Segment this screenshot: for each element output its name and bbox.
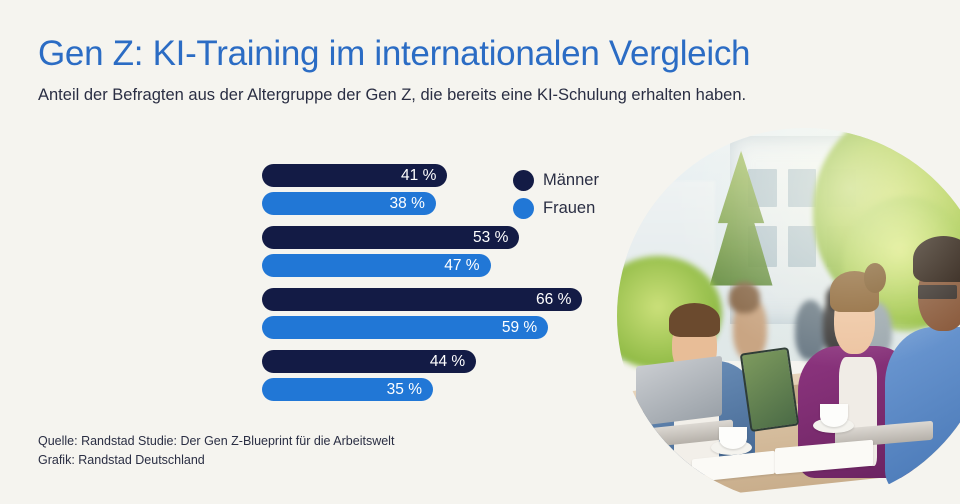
bar-value-label: 59 % bbox=[502, 319, 537, 337]
bar-value-label: 53 % bbox=[473, 229, 508, 247]
bar-value-label: 41 % bbox=[401, 167, 436, 185]
legend-label: Frauen bbox=[543, 199, 595, 218]
bar-men-spanien: 53 % bbox=[262, 226, 519, 249]
bar-row-women: 35 % bbox=[262, 378, 622, 401]
bar-value-label: 35 % bbox=[387, 381, 422, 399]
header: Gen Z: KI-Training im internationalen Ve… bbox=[38, 34, 938, 108]
bar-men-usa: 44 % bbox=[262, 350, 476, 373]
bar-pair: 66 % 59 % bbox=[262, 288, 622, 344]
bar-pair: 53 % 47 % bbox=[262, 226, 622, 282]
source-line-1: Quelle: Randstad Studie: Der Gen Z-Bluep… bbox=[38, 432, 394, 451]
bar-row-women: 59 % bbox=[262, 316, 622, 339]
page-title: Gen Z: KI-Training im internationalen Ve… bbox=[38, 34, 938, 74]
bar-women-usa: 35 % bbox=[262, 378, 433, 401]
bar-value-label: 47 % bbox=[444, 257, 479, 275]
bar-women-indien: 59 % bbox=[262, 316, 548, 339]
circle-icon bbox=[513, 170, 534, 191]
legend-label: Männer bbox=[543, 171, 599, 190]
photo-illustration bbox=[617, 128, 960, 504]
chart-legend: Männer Frauen bbox=[513, 170, 599, 226]
page-subtitle: Anteil der Befragten aus der Altergruppe… bbox=[38, 84, 873, 108]
bar-men-deutschland: 41 % bbox=[262, 164, 447, 187]
legend-item-frauen: Frauen bbox=[513, 198, 599, 219]
source-line-2: Grafik: Randstad Deutschland bbox=[38, 451, 394, 470]
bar-women-spanien: 47 % bbox=[262, 254, 491, 277]
bar-group-spanien: Spanien 53 % 47 % bbox=[0, 222, 620, 284]
bar-row-men: 53 % bbox=[262, 226, 622, 249]
bar-group-indien: Indien 66 % 59 % bbox=[0, 284, 620, 346]
infographic-canvas: Gen Z: KI-Training im internationalen Ve… bbox=[0, 0, 960, 502]
bar-row-women: 47 % bbox=[262, 254, 622, 277]
legend-item-maenner: Männer bbox=[513, 170, 599, 191]
bar-men-indien: 66 % bbox=[262, 288, 582, 311]
photo-students-outdoors bbox=[617, 128, 960, 504]
bar-row-men: 66 % bbox=[262, 288, 622, 311]
bar-row-men: 44 % bbox=[262, 350, 622, 373]
bar-group-usa: USA 44 % 35 % bbox=[0, 346, 620, 408]
bar-pair: 44 % 35 % bbox=[262, 350, 622, 406]
bar-value-label: 38 % bbox=[390, 195, 425, 213]
bar-value-label: 44 % bbox=[430, 353, 465, 371]
bar-value-label: 66 % bbox=[536, 291, 571, 309]
circle-icon bbox=[513, 198, 534, 219]
bar-women-deutschland: 38 % bbox=[262, 192, 436, 215]
source-credits: Quelle: Randstad Studie: Der Gen Z-Bluep… bbox=[38, 432, 394, 471]
